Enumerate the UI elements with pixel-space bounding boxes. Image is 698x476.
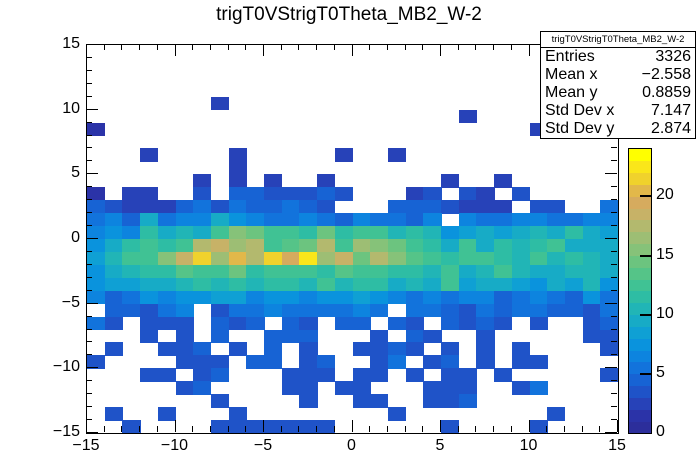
heatmap-cell <box>494 226 512 240</box>
y-axis-minor-tick <box>86 212 92 213</box>
heatmap-cell <box>441 342 459 356</box>
heatmap-cell <box>441 291 459 305</box>
heatmap-cell <box>406 368 424 382</box>
heatmap-cell <box>370 278 388 292</box>
heatmap-cell <box>140 213 158 227</box>
heatmap-cell <box>441 200 459 214</box>
heatmap-cell <box>122 304 140 318</box>
heatmap-cell <box>122 213 140 227</box>
x-axis-minor-tick <box>475 426 476 432</box>
heatmap-cell <box>583 291 601 305</box>
heatmap-cell <box>193 355 211 369</box>
y-axis-major-tick <box>86 303 98 304</box>
heatmap-cell <box>122 187 140 201</box>
x-axis-minor-tick <box>511 426 512 432</box>
heatmap-cell <box>105 200 123 214</box>
heatmap-cell <box>583 265 601 279</box>
heatmap-cell <box>140 330 158 344</box>
heatmap-cell <box>158 368 176 382</box>
heatmap-cell <box>105 213 123 227</box>
x-axis-minor-tick <box>139 426 140 432</box>
x-axis-minor-tick <box>564 426 565 432</box>
x-axis-minor-tick <box>369 44 370 50</box>
heatmap-cell <box>423 213 441 227</box>
x-axis-minor-tick <box>298 44 299 50</box>
heatmap-cell <box>353 278 371 292</box>
color-scale-band <box>629 398 651 410</box>
heatmap-cell <box>299 355 317 369</box>
y-axis-minor-tick <box>86 83 92 84</box>
heatmap-cell <box>105 265 123 279</box>
heatmap-cell <box>441 381 459 395</box>
y-axis-label: 15 <box>36 35 80 53</box>
heatmap-cell <box>282 278 300 292</box>
heatmap-cell <box>140 368 158 382</box>
heatmap-cell <box>406 252 424 266</box>
heatmap-cell <box>122 420 140 433</box>
heatmap-cell <box>583 330 601 344</box>
heatmap-cell <box>512 291 530 305</box>
color-scale-band <box>629 291 651 303</box>
heatmap-cell <box>211 278 229 292</box>
x-axis-major-tick <box>352 420 353 432</box>
color-scale-band <box>629 279 651 291</box>
heatmap-cell <box>282 226 300 240</box>
heatmap-cell <box>122 200 140 214</box>
heatmap-cell <box>158 278 176 292</box>
heatmap-cell <box>176 330 194 344</box>
heatmap-cell <box>193 239 211 253</box>
heatmap-cell <box>264 187 282 201</box>
color-scale-bar <box>628 148 652 434</box>
color-scale-label: 15 <box>656 246 674 264</box>
heatmap-cell <box>370 265 388 279</box>
heatmap-cell <box>264 291 282 305</box>
heatmap-cell <box>229 304 247 318</box>
heatmap-cell <box>158 252 176 266</box>
heatmap-cell <box>353 304 371 318</box>
y-axis-minor-tick <box>611 393 617 394</box>
heatmap-cell <box>370 239 388 253</box>
heatmap-cell <box>476 278 494 292</box>
heatmap-cell <box>441 420 459 433</box>
heatmap-cell <box>282 252 300 266</box>
heatmap-cell <box>317 187 335 201</box>
heatmap-cell <box>441 239 459 253</box>
heatmap-cell <box>229 278 247 292</box>
heatmap-cell <box>246 187 264 201</box>
heatmap-cell <box>459 381 477 395</box>
y-axis-minor-tick <box>86 341 92 342</box>
heatmap-cell <box>583 239 601 253</box>
color-scale-band <box>629 409 651 421</box>
statistics-key: Entries <box>545 48 595 66</box>
heatmap-cell <box>299 278 317 292</box>
heatmap-cell <box>512 278 530 292</box>
y-axis-major-tick <box>605 173 617 174</box>
y-axis-label: 5 <box>36 164 80 182</box>
heatmap-cell <box>140 278 158 292</box>
heatmap-cell <box>530 226 548 240</box>
heatmap-cell <box>494 174 512 188</box>
heatmap-cell <box>211 252 229 266</box>
x-axis-label: −5 <box>254 437 272 455</box>
heatmap-cell <box>140 291 158 305</box>
heatmap-cell <box>264 342 282 356</box>
heatmap-cell <box>459 291 477 305</box>
statistics-value: 0.8859 <box>642 84 691 102</box>
y-axis-minor-tick <box>86 57 92 58</box>
heatmap-cell <box>299 239 317 253</box>
heatmap-cell <box>317 368 335 382</box>
x-axis-minor-tick <box>316 44 317 50</box>
heatmap-cell <box>583 304 601 318</box>
heatmap-cell <box>406 291 424 305</box>
heatmap-cell <box>388 278 406 292</box>
x-axis-major-tick <box>263 44 264 56</box>
heatmap-cell <box>406 187 424 201</box>
y-axis-major-tick <box>86 109 98 110</box>
heatmap-cell <box>583 252 601 266</box>
heatmap-cell <box>282 330 300 344</box>
y-axis-minor-tick <box>86 419 92 420</box>
color-scale-band <box>629 196 651 208</box>
heatmap-cell <box>264 174 282 188</box>
heatmap-cell <box>317 226 335 240</box>
heatmap-cell <box>211 265 229 279</box>
heatmap-cell <box>423 355 441 369</box>
heatmap-cell <box>246 420 264 433</box>
y-axis-major-tick <box>605 303 617 304</box>
heatmap-cell <box>423 394 441 408</box>
heatmap-cell <box>158 291 176 305</box>
x-axis-major-tick <box>263 420 264 432</box>
heatmap-cell <box>264 330 282 344</box>
heatmap-cell <box>122 278 140 292</box>
x-axis-minor-tick <box>281 44 282 50</box>
heatmap-cell <box>246 355 264 369</box>
heatmap-cell <box>441 252 459 266</box>
heatmap-cell <box>299 304 317 318</box>
heatmap-cell <box>299 420 317 433</box>
heatmap-cell <box>282 200 300 214</box>
y-axis-minor-tick <box>86 290 92 291</box>
heatmap-cell <box>335 148 353 162</box>
x-axis-minor-tick <box>475 44 476 50</box>
y-axis-major-tick <box>86 44 98 45</box>
heatmap-cell <box>176 226 194 240</box>
heatmap-cell <box>406 278 424 292</box>
color-scale-band <box>629 350 651 362</box>
heatmap-cell <box>158 407 176 421</box>
x-axis-minor-tick <box>369 426 370 432</box>
statistics-box: trigT0VStrigT0Theta_MB2_W-2 Entries3326M… <box>540 31 696 139</box>
heatmap-cell <box>158 226 176 240</box>
y-axis-major-tick <box>605 238 617 239</box>
x-axis-label: 10 <box>520 437 538 455</box>
y-axis-minor-tick <box>611 406 617 407</box>
heatmap-cell <box>476 330 494 344</box>
heatmap-cell <box>565 252 583 266</box>
x-axis-minor-tick <box>157 426 158 432</box>
heatmap-cell <box>583 317 601 331</box>
x-axis-minor-tick <box>281 426 282 432</box>
heatmap-cell <box>476 252 494 266</box>
heatmap-cell <box>140 239 158 253</box>
x-axis-major-tick <box>86 420 87 432</box>
heatmap-cell <box>388 355 406 369</box>
heatmap-cell <box>441 368 459 382</box>
heatmap-cell <box>423 252 441 266</box>
heatmap-cell <box>476 355 494 369</box>
heatmap-cell <box>105 304 123 318</box>
heatmap-cell <box>122 291 140 305</box>
heatmap-cell <box>530 317 548 331</box>
heatmap-cell <box>494 239 512 253</box>
heatmap-cell <box>140 304 158 318</box>
heatmap-cell <box>211 226 229 240</box>
statistics-box-title: trigT0VStrigT0Theta_MB2_W-2 <box>541 32 695 48</box>
heatmap-cell <box>264 213 282 227</box>
y-axis-minor-tick <box>611 380 617 381</box>
statistics-row: Mean y0.8859 <box>541 84 695 102</box>
heatmap-cell <box>459 187 477 201</box>
heatmap-cell <box>176 304 194 318</box>
heatmap-cell <box>335 226 353 240</box>
heatmap-cell <box>441 304 459 318</box>
heatmap-cell <box>476 317 494 331</box>
heatmap-cell <box>335 187 353 201</box>
heatmap-cell <box>406 200 424 214</box>
x-axis-minor-tick <box>192 44 193 50</box>
heatmap-cell <box>317 291 335 305</box>
heatmap-cell <box>193 213 211 227</box>
heatmap-cell <box>335 239 353 253</box>
x-axis-label: −10 <box>161 437 188 455</box>
heatmap-cell <box>494 291 512 305</box>
y-axis-minor-tick <box>611 251 617 252</box>
y-axis-minor-tick <box>86 135 92 136</box>
heatmap-cell <box>388 239 406 253</box>
heatmap-cell <box>441 317 459 331</box>
heatmap-cell <box>441 174 459 188</box>
color-scale-label: 0 <box>656 423 665 441</box>
heatmap-cell <box>512 213 530 227</box>
x-axis-major-tick <box>175 44 176 56</box>
heatmap-cell <box>512 226 530 240</box>
heatmap-cell <box>229 252 247 266</box>
heatmap-cell <box>547 407 565 421</box>
heatmap-cell <box>299 394 317 408</box>
color-scale-tick <box>640 195 651 197</box>
y-axis-minor-tick <box>611 290 617 291</box>
y-axis-minor-tick <box>86 406 92 407</box>
heatmap-cell <box>211 239 229 253</box>
heatmap-cell <box>246 239 264 253</box>
heatmap-cell <box>512 239 530 253</box>
heatmap-cell <box>158 213 176 227</box>
heatmap-cell <box>282 291 300 305</box>
heatmap-cell <box>193 265 211 279</box>
y-axis-minor-tick <box>86 354 92 355</box>
heatmap-cell <box>246 226 264 240</box>
heatmap-cell <box>370 291 388 305</box>
heatmap-cell <box>193 278 211 292</box>
heatmap-cell <box>565 239 583 253</box>
heatmap-cell <box>317 355 335 369</box>
heatmap-cell <box>229 161 247 175</box>
heatmap-cell <box>229 213 247 227</box>
x-axis-minor-tick <box>210 44 211 50</box>
x-axis-minor-tick <box>104 426 105 432</box>
x-axis-minor-tick <box>316 426 317 432</box>
heatmap-cell <box>193 200 211 214</box>
heatmap-cell <box>353 291 371 305</box>
y-axis-minor-tick <box>86 251 92 252</box>
heatmap-cell <box>335 213 353 227</box>
x-axis-minor-tick <box>387 44 388 50</box>
heatmap-cell <box>353 226 371 240</box>
heatmap-cell <box>282 317 300 331</box>
y-axis-minor-tick <box>611 341 617 342</box>
statistics-key: Std Dev x <box>545 102 614 120</box>
color-scale-tick <box>640 373 651 375</box>
heatmap-cell <box>193 368 211 382</box>
x-axis-minor-tick <box>210 426 211 432</box>
x-axis-minor-tick <box>422 44 423 50</box>
x-axis-major-tick <box>175 420 176 432</box>
heatmap-cell <box>388 291 406 305</box>
heatmap-cell <box>229 226 247 240</box>
x-axis-minor-tick <box>405 44 406 50</box>
x-axis-minor-tick <box>458 44 459 50</box>
heatmap-cell <box>229 291 247 305</box>
y-axis-minor-tick <box>86 225 92 226</box>
heatmap-cell <box>547 304 565 318</box>
heatmap-cell <box>530 381 548 395</box>
heatmap-cell <box>459 394 477 408</box>
heatmap-cell <box>122 252 140 266</box>
color-scale-band <box>629 149 651 161</box>
color-scale-label: 5 <box>656 364 665 382</box>
heatmap-cell <box>370 368 388 382</box>
heatmap-cell <box>176 278 194 292</box>
y-axis-minor-tick <box>611 316 617 317</box>
heatmap-cell <box>176 213 194 227</box>
heatmap-cell <box>229 342 247 356</box>
color-scale-band <box>629 267 651 279</box>
statistics-value: 2.874 <box>651 120 691 138</box>
x-axis-minor-tick <box>245 426 246 432</box>
heatmap-cell <box>494 200 512 214</box>
heatmap-cell <box>193 342 211 356</box>
heatmap-cell <box>547 265 565 279</box>
heatmap-cell <box>459 304 477 318</box>
heatmap-cell <box>211 420 229 433</box>
color-scale-tick <box>640 314 651 316</box>
heatmap-cell <box>353 342 371 356</box>
heatmap-cell <box>547 239 565 253</box>
y-axis-label: 0 <box>36 229 80 247</box>
heatmap-cell <box>317 174 335 188</box>
heatmap-cell <box>406 304 424 318</box>
color-scale-band <box>629 220 651 232</box>
heatmap-cell <box>158 317 176 331</box>
y-axis-minor-tick <box>86 393 92 394</box>
heatmap-cell <box>388 407 406 421</box>
heatmap-cell <box>459 110 477 124</box>
y-axis-label: −5 <box>36 294 80 312</box>
heatmap-cell <box>476 291 494 305</box>
x-axis-minor-tick <box>405 426 406 432</box>
heatmap-cell <box>335 278 353 292</box>
color-scale-band <box>629 315 651 327</box>
statistics-key: Std Dev y <box>545 120 614 138</box>
heatmap-cell <box>494 252 512 266</box>
y-axis-minor-tick <box>611 160 617 161</box>
heatmap-cell <box>299 342 317 356</box>
y-axis-major-tick <box>86 432 98 433</box>
heatmap-cell <box>264 265 282 279</box>
heatmap-cell <box>406 265 424 279</box>
heatmap-cell <box>317 239 335 253</box>
heatmap-cell <box>530 265 548 279</box>
heatmap-cell <box>299 381 317 395</box>
heatmap-cell <box>317 265 335 279</box>
heatmap-cell <box>140 265 158 279</box>
heatmap-cell <box>476 342 494 356</box>
heatmap-cell <box>229 239 247 253</box>
color-scale-band <box>629 374 651 386</box>
heatmap-cell <box>299 226 317 240</box>
heatmap-cell <box>193 291 211 305</box>
heatmap-cell <box>105 278 123 292</box>
heatmap-cell <box>353 368 371 382</box>
heatmap-cell <box>512 355 530 369</box>
heatmap-cell <box>459 239 477 253</box>
heatmap-cell <box>388 317 406 331</box>
heatmap-cell <box>282 187 300 201</box>
heatmap-cell <box>158 200 176 214</box>
heatmap-cell <box>122 239 140 253</box>
x-axis-minor-tick <box>192 426 193 432</box>
heatmap-cell <box>211 394 229 408</box>
y-axis-minor-tick <box>86 199 92 200</box>
heatmap-cell <box>193 252 211 266</box>
y-axis-minor-tick <box>86 186 92 187</box>
heatmap-cell <box>246 252 264 266</box>
statistics-row: Entries3326 <box>541 48 695 66</box>
heatmap-cell <box>388 148 406 162</box>
heatmap-cell <box>530 252 548 266</box>
heatmap-cell <box>299 252 317 266</box>
heatmap-cell <box>105 407 123 421</box>
heatmap-cell <box>512 304 530 318</box>
heatmap-cell <box>176 317 194 331</box>
y-axis-minor-tick <box>86 122 92 123</box>
color-scale-label: 20 <box>656 186 674 204</box>
heatmap-cell <box>547 226 565 240</box>
heatmap-cell <box>494 278 512 292</box>
y-axis-label: 10 <box>36 100 80 118</box>
heatmap-cells <box>87 45 618 433</box>
heatmap-cell <box>476 213 494 227</box>
heatmap-cell <box>530 200 548 214</box>
heatmap-cell <box>211 291 229 305</box>
heatmap-cell <box>299 213 317 227</box>
heatmap-cell <box>211 213 229 227</box>
y-axis-minor-tick <box>86 277 92 278</box>
